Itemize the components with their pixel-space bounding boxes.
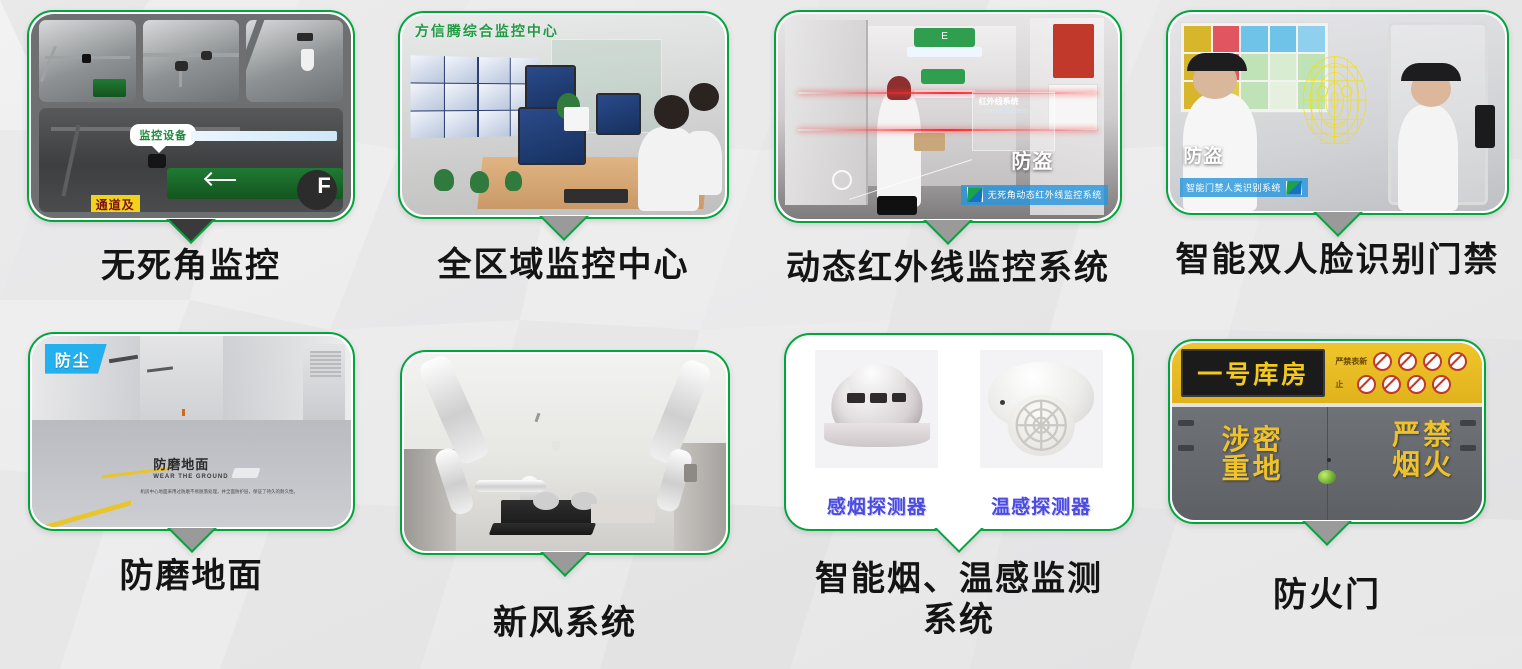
grid-cell-7: 感烟探测器 温感探测器 智能烟、温感监测 系统 — [760, 320, 1140, 669]
no-camera-icon — [1357, 375, 1376, 394]
corridor-sign: 通道及 — [91, 195, 140, 212]
exit-sign-top: E — [914, 28, 975, 46]
card-photo: E 红外线系统 — [778, 14, 1118, 219]
card-photo: 防磨地面 WEAR THE GROUND 机房中心地面采用过防磨不易脱落处理，并… — [32, 336, 351, 527]
feature-card-grid: 监控设备 F 通道及 — [0, 0, 1522, 669]
overlay-bar: 无死角动态红外线监控系统 — [961, 185, 1108, 205]
wall-title: 方信腾综合监控中心 — [415, 21, 559, 41]
infrared-panel-title: 红外线系统 — [979, 96, 1019, 107]
corridor-sign-label: 通道及 — [96, 198, 135, 212]
card-photo: 感烟探测器 温感探测器 — [788, 337, 1130, 527]
door-text-right: 严禁 烟火 — [1392, 420, 1454, 479]
no-pet-icon — [1432, 375, 1451, 394]
infrared-panel-subtitle: Infrared System — [979, 108, 1028, 115]
dustproof-badge: 防尘 — [45, 344, 107, 374]
face-mesh-overlay — [1281, 46, 1388, 168]
grid-cell-1: 监控设备 F 通道及 — [0, 0, 380, 320]
card-fresh-air-system[interactable] — [400, 350, 730, 555]
no-smoking-icon — [1373, 352, 1392, 371]
callout-label: 监控设备 — [139, 130, 187, 142]
card-fire-door[interactable]: 一号库房 严禁表新 止 — [1168, 339, 1486, 524]
card-tail — [142, 219, 240, 249]
no-entry-icon — [1423, 352, 1442, 371]
grid-cell-2: 方信腾综合监控中心 — [380, 0, 760, 320]
grid-cell-3: E 红外线系统 — [760, 0, 1140, 320]
heat-detector-photo — [980, 350, 1103, 468]
grid-cell-8: 一号库房 严禁表新 止 — [1140, 320, 1520, 669]
heat-detector-grille-icon — [1008, 397, 1074, 454]
exit-letter: E — [941, 31, 948, 42]
card-tail — [515, 216, 613, 246]
card-caption: 新风系统 — [400, 603, 730, 644]
overlay-bar-label: 智能门禁人类识别系统 — [1186, 181, 1281, 194]
card-caption: 全区域监控中心 — [398, 245, 729, 286]
card-caption: 无死角监控 — [27, 246, 355, 287]
photo-watermark-desc: 机房中心地面采用过防磨不易脱落处理，并全面防护层，保证了持久的耐久性。 — [140, 489, 319, 496]
overlay-tag: 防盗 — [1183, 141, 1223, 168]
card-caption: 防磨地面 — [28, 556, 355, 597]
prohibition-icons: 严禁表新 止 — [1335, 352, 1467, 394]
smoke-detector-photo — [815, 350, 938, 468]
card-monitoring-center[interactable]: 方信腾综合监控中心 — [398, 11, 729, 219]
fire-door: 涉密 重地 严禁 烟火 — [1172, 407, 1482, 520]
photo-watermark-subtitle: WEAR THE GROUND — [153, 474, 228, 480]
card-dual-face-access[interactable]: 防盗 智能门禁人类识别系统 — [1166, 10, 1509, 215]
card-photo: 方信腾综合监控中心 — [402, 15, 725, 215]
door-text-left: 涉密 重地 — [1222, 425, 1284, 484]
dustproof-badge-label: 防尘 — [55, 353, 91, 370]
card-photo — [404, 354, 726, 551]
card-tail — [1289, 212, 1387, 242]
card-tail — [910, 528, 1008, 558]
card-caption: 智能双人脸识别门禁 — [1166, 240, 1509, 281]
card-wear-resistant-floor[interactable]: 防磨地面 WEAR THE GROUND 机房中心地面采用过防磨不易脱落处理，并… — [28, 332, 355, 531]
grid-cell-4: 防盗 智能门禁人类识别系统 智能双人脸识别门禁 — [1140, 0, 1520, 320]
card-tail — [516, 552, 614, 582]
grid-cell-5: 防磨地面 WEAR THE GROUND 机房中心地面采用过防磨不易脱落处理，并… — [0, 320, 380, 669]
warehouse-plate: 一号库房 — [1181, 349, 1325, 397]
brand-logo-icon — [1286, 181, 1302, 195]
door-indicator-light — [1318, 470, 1336, 484]
smoke-detector-label: 感烟探测器 — [809, 492, 946, 519]
callout-monitoring-device: 监控设备 — [130, 124, 196, 146]
card-photo: 防盗 智能门禁人类识别系统 — [1170, 14, 1505, 211]
card-infrared-monitoring[interactable]: E 红外线系统 — [774, 10, 1122, 223]
brand-logo-icon — [967, 187, 983, 202]
grid-cell-6: 新风系统 — [380, 320, 760, 669]
warning-text-2: 止 — [1335, 379, 1351, 390]
no-drink-icon — [1382, 375, 1401, 394]
card-tail — [1278, 521, 1376, 551]
card-photo: 监控设备 F 通道及 — [31, 14, 351, 218]
heat-detector-label: 温感探测器 — [973, 492, 1110, 519]
card-caption: 智能烟、温感监测 系统 — [784, 559, 1134, 642]
warehouse-sign-band: 一号库房 严禁表新 止 — [1172, 343, 1482, 403]
card-surveillance-no-blind-spot[interactable]: 监控设备 F 通道及 — [27, 10, 355, 222]
no-tool-icon — [1407, 375, 1426, 394]
no-phone-icon — [1448, 352, 1467, 371]
card-tail — [899, 220, 997, 250]
warning-text-1: 严禁表新 — [1335, 356, 1367, 367]
overlay-tag: 防盗 — [1011, 145, 1053, 174]
overlay-bar-label: 无死角动态红外线监控系统 — [988, 188, 1102, 201]
card-caption: 防火门 — [1168, 575, 1486, 616]
card-smoke-temp-detection[interactable]: 感烟探测器 温感探测器 — [784, 333, 1134, 531]
no-fire-icon — [1398, 352, 1417, 371]
card-tail — [143, 528, 241, 558]
card-caption: 动态红外线监控系统 — [774, 248, 1122, 289]
photo-watermark-title: 防磨地面 — [153, 454, 209, 473]
overlay-bar: 智能门禁人类识别系统 — [1180, 178, 1308, 197]
card-photo: 一号库房 严禁表新 止 — [1172, 343, 1482, 520]
